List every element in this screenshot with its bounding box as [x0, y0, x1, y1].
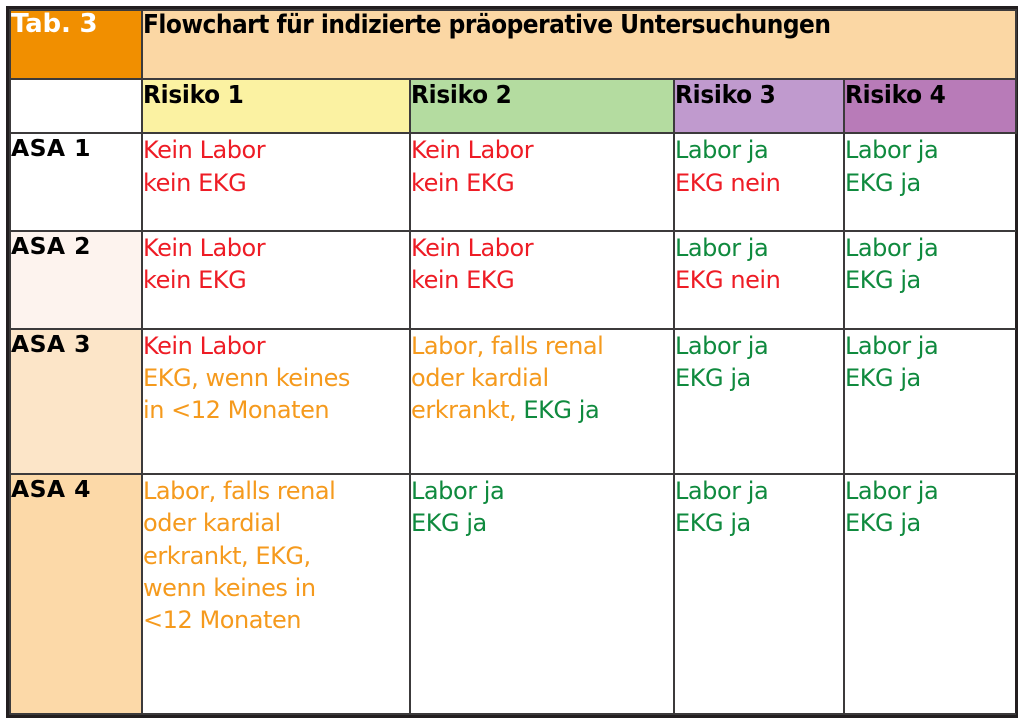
cell-text-orange: oder kardial [411, 364, 549, 392]
cell-text-red: EKG nein [675, 266, 780, 294]
column-header-label: Risiko 4 [845, 80, 946, 109]
column-header-risiko-1: Risiko 1 [142, 79, 410, 133]
cell-line: EKG ja [675, 507, 843, 539]
cell-text-green: Labor ja [845, 136, 938, 164]
cell-text-red: kein EKG [411, 266, 514, 294]
cell-line: EKG ja [845, 167, 1016, 199]
cell-content: Kein Laborkein EKG [143, 232, 409, 297]
title-row: Tab. 3 Flowchart für indizierte präopera… [10, 10, 1016, 79]
cell-content: Labor jaEKG nein [675, 232, 843, 297]
row-label-asa-2: ASA 2 [10, 231, 142, 329]
cell-content: Labor, falls renaloder kardialerkrankt, … [411, 330, 673, 427]
cell-asa-4-risiko-2: Labor jaEKG ja [410, 474, 674, 714]
cell-text-red: kein EKG [411, 169, 514, 197]
row-label: ASA 4 [11, 475, 91, 503]
cell-asa-2-risiko-4: Labor jaEKG ja [844, 231, 1016, 329]
cell-asa-1-risiko-1: Kein Laborkein EKG [142, 133, 410, 231]
cell-text-green: Labor ja [845, 477, 938, 505]
column-header-risiko-3: Risiko 3 [674, 79, 844, 133]
row-label-asa-4: ASA 4 [10, 474, 142, 714]
cell-line: EKG ja [845, 507, 1016, 539]
cell-asa-3-risiko-2: Labor, falls renaloder kardialerkrankt, … [410, 329, 674, 474]
column-header-row: Risiko 1Risiko 2Risiko 3Risiko 4 [10, 79, 1016, 133]
column-header-label: Risiko 3 [675, 80, 776, 109]
cell-text-green: Labor ja [675, 477, 768, 505]
cell-text-green: Labor ja [675, 136, 768, 164]
cell-text-green: EKG ja [675, 364, 751, 392]
cell-text-orange: oder kardial [143, 509, 281, 537]
cell-line: Labor ja [845, 232, 1016, 264]
cell-asa-2-risiko-1: Kein Laborkein EKG [142, 231, 410, 329]
cell-line: Labor ja [845, 134, 1016, 166]
cell-text-red: kein EKG [143, 169, 246, 197]
cell-asa-1-risiko-3: Labor jaEKG nein [674, 133, 844, 231]
cell-line: <12 Monaten [143, 604, 409, 636]
cell-text-green: Labor ja [675, 332, 768, 360]
cell-text-green: Labor ja [845, 332, 938, 360]
cell-line: kein EKG [411, 264, 673, 296]
cell-content: Labor jaEKG ja [411, 475, 673, 540]
cell-text-red: Kein Labor [143, 136, 265, 164]
cell-text-green: EKG ja [523, 396, 599, 424]
cell-line: oder kardial [411, 362, 673, 394]
cell-text-red: Kein Labor [411, 136, 533, 164]
cell-line: erkrankt, EKG, [143, 540, 409, 572]
cell-text-green: Labor ja [411, 477, 504, 505]
preoperative-examination-table: Tab. 3 Flowchart für indizierte präopera… [9, 9, 1017, 715]
cell-line: Labor ja [845, 475, 1016, 507]
row-label: ASA 2 [11, 232, 91, 260]
cell-text-orange: <12 Monaten [143, 606, 301, 634]
cell-line: Labor ja [675, 330, 843, 362]
cell-content: Labor jaEKG ja [675, 330, 843, 395]
cell-line: Kein Labor [143, 232, 409, 264]
row-label-asa-3: ASA 3 [10, 329, 142, 474]
cell-asa-1-risiko-4: Labor jaEKG ja [844, 133, 1016, 231]
cell-text-green: EKG ja [845, 169, 921, 197]
column-header-label: Risiko 2 [411, 80, 512, 109]
column-header-risiko-4: Risiko 4 [844, 79, 1016, 133]
row-label-asa-1: ASA 1 [10, 133, 142, 231]
cell-line: EKG nein [675, 167, 843, 199]
cell-text-orange: in <12 Monaten [143, 396, 329, 424]
table-row: ASA 4Labor, falls renaloder kardialerkra… [10, 474, 1016, 714]
cell-text-orange: wenn keines in [143, 574, 316, 602]
row-label: ASA 1 [11, 134, 91, 162]
cell-text-red: Kein Labor [411, 234, 533, 262]
row-label: ASA 3 [11, 330, 91, 358]
cell-text-green: EKG ja [845, 509, 921, 537]
cell-line: kein EKG [143, 264, 409, 296]
cell-line: Kein Labor [143, 134, 409, 166]
cell-line: Kein Labor [411, 134, 673, 166]
cell-line: Kein Labor [143, 330, 409, 362]
table-container: Tab. 3 Flowchart für indizierte präopera… [6, 6, 1018, 718]
table-row: ASA 1Kein Laborkein EKGKein Laborkein EK… [10, 133, 1016, 231]
cell-asa-3-risiko-3: Labor jaEKG ja [674, 329, 844, 474]
cell-line: EKG, wenn keines [143, 362, 409, 394]
cell-line: kein EKG [411, 167, 673, 199]
cell-asa-4-risiko-4: Labor jaEKG ja [844, 474, 1016, 714]
cell-text-red: Kein Labor [143, 332, 265, 360]
cell-content: Kein Laborkein EKG [411, 232, 673, 297]
page-title: Flowchart für indizierte präoperative Un… [143, 11, 941, 39]
cell-content: Kein Laborkein EKG [143, 134, 409, 199]
cell-line: Labor ja [411, 475, 673, 507]
table-number-badge: Tab. 3 [10, 10, 142, 79]
cell-content: Labor jaEKG nein [675, 134, 843, 199]
cell-text-orange: erkrankt, [411, 396, 523, 424]
cell-text-green: Labor ja [845, 234, 938, 262]
cell-text-red: Kein Labor [143, 234, 265, 262]
cell-content: Labor jaEKG ja [675, 475, 843, 540]
table-row: ASA 2Kein Laborkein EKGKein Laborkein EK… [10, 231, 1016, 329]
cell-line: EKG ja [411, 507, 673, 539]
cell-line: Labor ja [675, 475, 843, 507]
cell-text-red: EKG nein [675, 169, 780, 197]
column-header-label: Risiko 1 [143, 80, 244, 109]
cell-content: Kein Laborkein EKG [411, 134, 673, 199]
table-title-cell: Flowchart für indizierte präoperative Un… [142, 10, 1016, 79]
cell-line: kein EKG [143, 167, 409, 199]
cell-line: erkrankt, EKG ja [411, 394, 673, 426]
header-corner-cell [10, 79, 142, 133]
cell-text-orange: EKG, wenn keines [143, 364, 350, 392]
cell-line: Labor ja [675, 232, 843, 264]
cell-text-orange: Labor, falls renal [411, 332, 603, 360]
cell-line: in <12 Monaten [143, 394, 409, 426]
cell-line: wenn keines in [143, 572, 409, 604]
cell-line: EKG nein [675, 264, 843, 296]
cell-content: Labor jaEKG ja [845, 330, 1016, 395]
cell-text-green: EKG ja [845, 266, 921, 294]
cell-text-green: Labor ja [675, 234, 768, 262]
cell-content: Labor jaEKG ja [845, 134, 1016, 199]
cell-asa-3-risiko-4: Labor jaEKG ja [844, 329, 1016, 474]
cell-asa-4-risiko-3: Labor jaEKG ja [674, 474, 844, 714]
cell-text-red: kein EKG [143, 266, 246, 294]
cell-content: Kein LaborEKG, wenn keinesin <12 Monaten [143, 330, 409, 427]
cell-text-green: EKG ja [411, 509, 487, 537]
cell-line: Labor, falls renal [411, 330, 673, 362]
cell-text-green: EKG ja [845, 364, 921, 392]
cell-line: Labor ja [845, 330, 1016, 362]
cell-line: EKG ja [675, 362, 843, 394]
cell-text-green: EKG ja [675, 509, 751, 537]
cell-line: Kein Labor [411, 232, 673, 264]
cell-asa-2-risiko-2: Kein Laborkein EKG [410, 231, 674, 329]
cell-content: Labor, falls renaloder kardialerkrankt, … [143, 475, 409, 636]
cell-asa-4-risiko-1: Labor, falls renaloder kardialerkrankt, … [142, 474, 410, 714]
cell-asa-3-risiko-1: Kein LaborEKG, wenn keinesin <12 Monaten [142, 329, 410, 474]
cell-text-orange: erkrankt, EKG, [143, 542, 311, 570]
table-row: ASA 3Kein LaborEKG, wenn keinesin <12 Mo… [10, 329, 1016, 474]
cell-line: EKG ja [845, 362, 1016, 394]
cell-line: Labor ja [675, 134, 843, 166]
cell-line: Labor, falls renal [143, 475, 409, 507]
cell-content: Labor jaEKG ja [845, 475, 1016, 540]
cell-asa-2-risiko-3: Labor jaEKG nein [674, 231, 844, 329]
cell-content: Labor jaEKG ja [845, 232, 1016, 297]
cell-asa-1-risiko-2: Kein Laborkein EKG [410, 133, 674, 231]
cell-line: oder kardial [143, 507, 409, 539]
table-number-label: Tab. 3 [11, 10, 97, 39]
cell-line: EKG ja [845, 264, 1016, 296]
column-header-risiko-2: Risiko 2 [410, 79, 674, 133]
cell-text-orange: Labor, falls renal [143, 477, 335, 505]
